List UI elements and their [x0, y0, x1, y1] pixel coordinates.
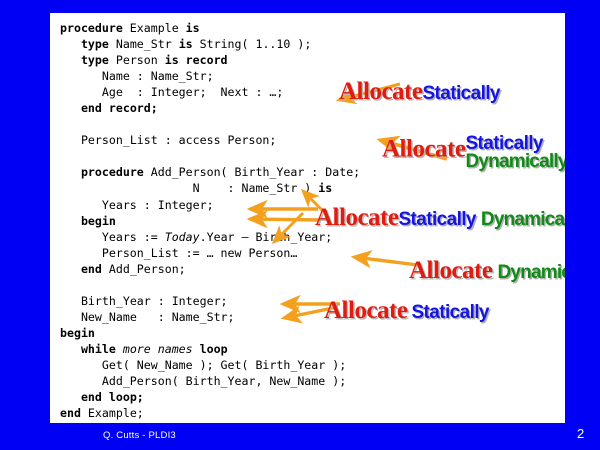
code-token: end record; — [81, 101, 158, 115]
code-line: end loop; — [60, 389, 360, 405]
code-line — [60, 116, 360, 132]
code-token: Years : Integer; — [102, 198, 214, 212]
code-line: Years := Today.Year – Birth_Year; — [60, 229, 360, 245]
annotation-dynamically-label: Dynamically — [465, 153, 565, 171]
code-line: Name : Name_Str; — [60, 68, 360, 84]
annotation-allocate-both-3: AllocateStaticallyDynamically — [315, 205, 565, 230]
code-line: Get( New_Name ); Get( Birth_Year ); — [60, 357, 360, 373]
code-line: while more names loop — [60, 341, 360, 357]
annotation-allocate-statically-5: AllocateStatically — [324, 298, 489, 323]
code-token: while — [81, 342, 116, 356]
code-line: Birth_Year : Integer; — [60, 293, 360, 309]
code-token: is — [318, 181, 332, 195]
code-token: Example; — [81, 406, 144, 420]
code-line — [60, 148, 360, 164]
code-line: Person_List := … new Person… — [60, 245, 360, 261]
code-token: Age : Integer; Next : …; — [102, 85, 283, 99]
code-line: procedure Add_Person( Birth_Year : Date; — [60, 164, 360, 180]
annotation-allocate-label: Allocate — [382, 136, 465, 163]
annotation-statically-label: Statically — [411, 302, 488, 323]
code-token: more names — [123, 342, 193, 356]
code-token: New_Name : Name_Str; — [81, 310, 235, 324]
code-line: New_Name : Name_Str; — [60, 309, 360, 325]
code-token: Add_Person( Birth_Year, New_Name ); — [102, 374, 346, 388]
code-token: String( 1..10 ); — [193, 37, 312, 51]
code-token: type — [81, 53, 109, 67]
annotation-allocate-stacked-2: Allocate Statically Dynamically — [382, 135, 565, 171]
code-token: is — [186, 21, 200, 35]
code-token: end — [60, 406, 81, 420]
code-token: procedure — [60, 21, 123, 35]
code-token: type — [81, 37, 109, 51]
annotation-statically-label: Statically — [398, 209, 475, 230]
code-token: .Year – Birth_Year; — [200, 230, 333, 244]
code-token: begin — [60, 326, 95, 340]
code-token: end — [81, 262, 102, 276]
code-line: Age : Integer; Next : …; — [60, 84, 360, 100]
code-line: begin — [60, 325, 360, 341]
code-line: type Person is record — [60, 52, 360, 68]
annotation-mode-stack: Statically Dynamically — [465, 135, 565, 171]
annotation-allocate-statically-1: AllocateStatically — [339, 79, 500, 104]
code-line: Person_List : access Person; — [60, 132, 360, 148]
slide-canvas: procedure Example is type Name_Str is St… — [0, 0, 600, 450]
page-number: 2 — [577, 426, 584, 441]
code-token: loop — [200, 342, 228, 356]
code-token: Example — [123, 21, 186, 35]
annotation-allocate-label: Allocate — [339, 78, 422, 105]
code-line: Add_Person( Birth_Year, New_Name ); — [60, 373, 360, 389]
code-line — [60, 277, 360, 293]
code-token: Add_Person( Birth_Year : Date; — [144, 165, 360, 179]
code-line: end Example; — [60, 405, 360, 421]
code-token: Birth_Year : Integer; — [81, 294, 228, 308]
code-token: Add_Person; — [102, 262, 186, 276]
code-token — [116, 342, 123, 356]
footer-credit: Q. Cutts - PLDI3 — [103, 430, 176, 441]
annotation-allocate-label: Allocate — [315, 204, 398, 231]
code-token: procedure — [81, 165, 144, 179]
code-token: Name : Name_Str; — [102, 69, 214, 83]
code-token: Person — [109, 53, 165, 67]
code-panel: procedure Example is type Name_Str is St… — [50, 13, 565, 423]
annotation-allocate-label: Allocate — [409, 257, 492, 284]
code-token: N : Name_Str ) — [60, 181, 318, 195]
code-line: N : Name_Str ) is — [60, 180, 360, 196]
code-token — [193, 342, 200, 356]
code-token: Name_Str — [109, 37, 179, 51]
annotation-allocate-dynamically-4: AllocateDynamically — [409, 258, 565, 283]
annotation-statically-label: Statically — [422, 83, 499, 104]
code-token: is record — [165, 53, 228, 67]
code-line: type Name_Str is String( 1..10 ); — [60, 36, 360, 52]
code-line: procedure Example is — [60, 20, 360, 36]
code-token: end loop; — [81, 390, 144, 404]
code-token: is — [179, 37, 193, 51]
code-line: end record; — [60, 100, 360, 116]
code-token: Person_List : access Person; — [81, 133, 276, 147]
code-token: Get( New_Name ); Get( Birth_Year ); — [102, 358, 346, 372]
code-token: Today — [165, 230, 200, 244]
code-line: end Add_Person; — [60, 261, 360, 277]
footer-bar — [0, 424, 600, 450]
code-token: begin — [81, 214, 116, 228]
code-token: Years := — [102, 230, 165, 244]
annotation-dynamically-label: Dynamically — [497, 262, 565, 283]
annotation-allocate-label: Allocate — [324, 297, 407, 324]
code-token: Person_List := … new Person… — [102, 246, 297, 260]
annotation-dynamically-label: Dynamically — [481, 209, 565, 230]
